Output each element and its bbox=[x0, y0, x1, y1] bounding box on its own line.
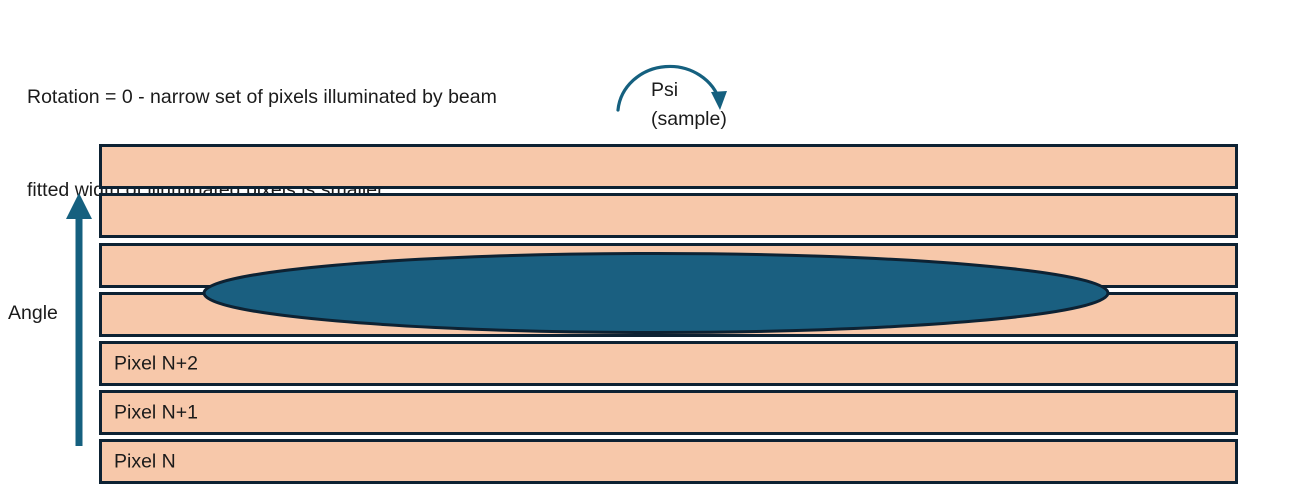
pixel-bar bbox=[99, 193, 1238, 238]
pixel-bar: Pixel N+2 bbox=[99, 341, 1238, 386]
pixel-bar: Pixel N bbox=[99, 439, 1238, 484]
pixel-bar bbox=[99, 292, 1238, 337]
caption-line-1: Rotation = 0 - narrow set of pixels illu… bbox=[27, 82, 727, 113]
psi-label-group: Psi (sample) bbox=[651, 76, 727, 134]
psi-sublabel: (sample) bbox=[651, 105, 727, 134]
diagram-canvas: Rotation = 0 - narrow set of pixels illu… bbox=[0, 0, 1315, 489]
pixel-bar-label: Pixel N+1 bbox=[114, 401, 198, 424]
pixel-bar-label: Pixel N bbox=[114, 450, 176, 473]
pixel-bar bbox=[99, 243, 1238, 288]
pixel-bar-label: Pixel N+2 bbox=[114, 352, 198, 375]
pixel-bar: Pixel N+1 bbox=[99, 390, 1238, 435]
psi-label: Psi bbox=[651, 79, 678, 101]
pixel-bar bbox=[99, 144, 1238, 189]
angle-label: Angle bbox=[8, 302, 58, 325]
